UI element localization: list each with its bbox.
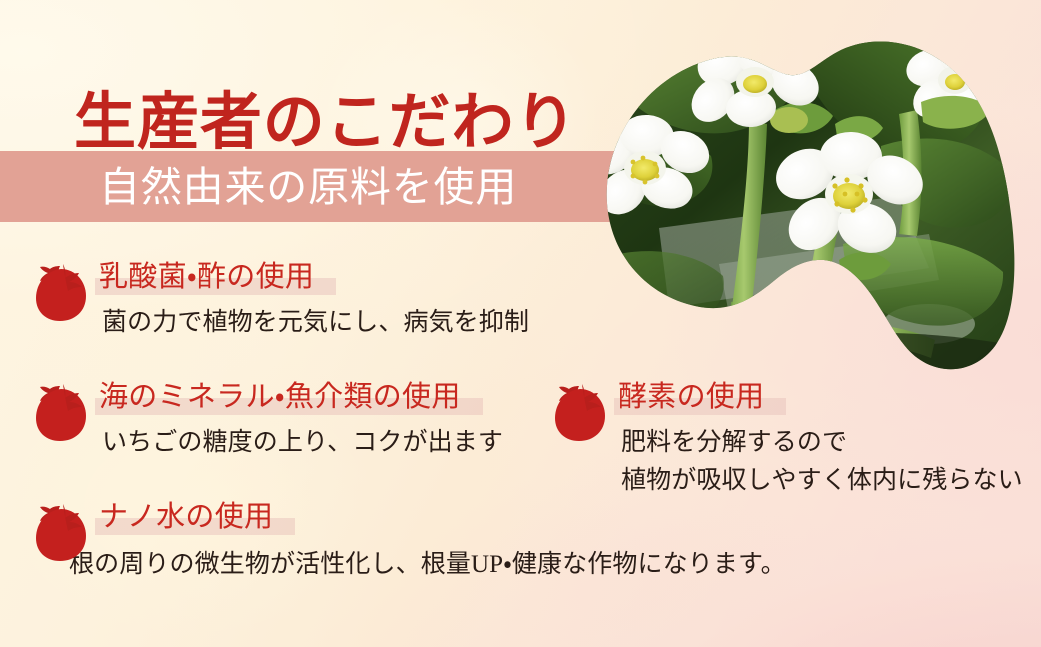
- feature-description-line: 菌の力で植物を元気にし、病気を抑制: [102, 304, 529, 342]
- feature-item-enzyme: 酵素の使用 肥料を分解するので 植物が吸収しやすく体内に残らない: [552, 378, 1023, 500]
- feature-heading: 海のミネラル・魚介類の使用: [99, 380, 461, 414]
- feature-body: 酵素の使用 肥料を分解するので 植物が吸収しやすく体内に残らない: [618, 378, 1023, 500]
- feature-heading-text: 乳酸菌・酢の使用: [99, 261, 314, 293]
- photo-blob-clip: [599, 28, 1017, 373]
- feature-item-nano-water: ナノ水の使用 根の周りの微生物が活性化し、根量UP・健康な作物になります。: [33, 498, 786, 584]
- feature-description-line: 植物が吸収しやすく体内に残らない: [621, 462, 1023, 500]
- photo-illustration: [599, 28, 1017, 373]
- feature-description-line: いちごの糖度の上り、コクが出ます: [102, 424, 503, 462]
- strawberry-icon: [552, 380, 608, 442]
- subtitle-text: 自然由来の原料を使用: [99, 158, 517, 216]
- feature-heading: 乳酸菌・酢の使用: [99, 260, 314, 294]
- feature-body: ナノ水の使用 根の周りの微生物が活性化し、根量UP・健康な作物になります。: [99, 498, 786, 584]
- feature-description-line: 肥料を分解するので: [621, 424, 1023, 462]
- feature-heading-text: ナノ水の使用: [99, 501, 273, 533]
- strawberry-icon: [33, 500, 89, 562]
- feature-heading-text: 酵素の使用: [618, 381, 764, 413]
- feature-description-line: 根の周りの微生物が活性化し、根量UP・健康な作物になります。: [69, 546, 786, 584]
- feature-body: 乳酸菌・酢の使用 菌の力で植物を元気にし、病気を抑制: [99, 258, 529, 342]
- strawberry-icon: [33, 380, 89, 442]
- feature-body: 海のミネラル・魚介類の使用 いちごの糖度の上り、コクが出ます: [99, 378, 503, 462]
- poster-root: 生産者のこだわり 自然由来の原料を使用 乳酸菌・酢の使用 菌の力で植物を元気にし…: [0, 0, 1041, 647]
- feature-heading: 酵素の使用: [618, 380, 764, 414]
- strawberry-icon: [33, 260, 89, 322]
- feature-item-lactic-acid: 乳酸菌・酢の使用 菌の力で植物を元気にし、病気を抑制: [33, 258, 529, 342]
- feature-heading-text: 海のミネラル・魚介類の使用: [99, 381, 461, 413]
- feature-item-sea-minerals: 海のミネラル・魚介類の使用 いちごの糖度の上り、コクが出ます: [33, 378, 503, 462]
- page-title: 生産者のこだわり: [74, 92, 577, 154]
- feature-heading: ナノ水の使用: [99, 500, 273, 534]
- strawberry-flower-photo: [599, 28, 1017, 373]
